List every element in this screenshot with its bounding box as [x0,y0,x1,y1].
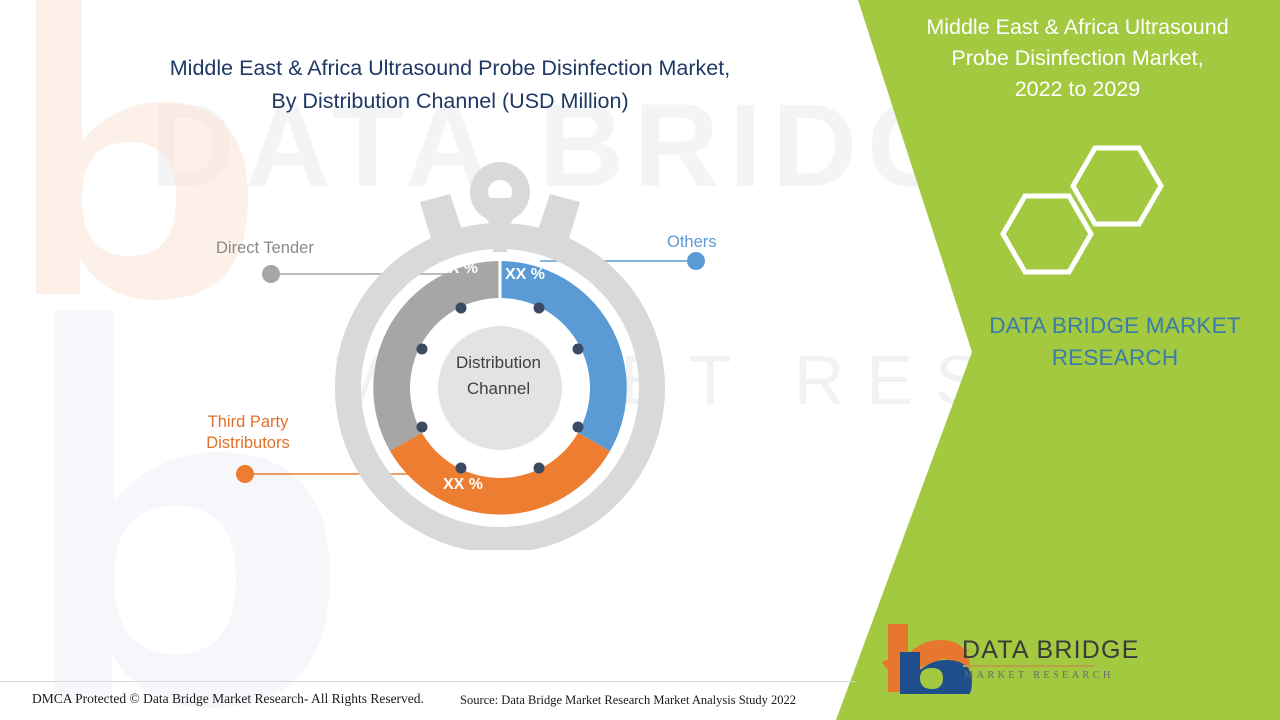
hexagon-2022 [1073,148,1161,224]
panel-brand-line-1: DATA BRIDGE MARKET [965,310,1265,342]
panel-brand-line-2: RESEARCH [965,342,1265,374]
panel-title-line-2: Probe Disinfection Market, [885,43,1270,74]
panel-title-line-3: 2022 to 2029 [885,74,1270,105]
distribution-channel-donut-chart [325,150,675,550]
footer-source: Source: Data Bridge Market Research Mark… [460,693,796,708]
data-bridge-logo-text: DATA BRIDGE MARKET RESEARCH [962,636,1140,683]
callout-dot-third-party [236,465,254,483]
year-hexagons [975,140,1185,280]
footer-bar: DMCA Protected © Data Bridge Market Rese… [0,681,855,720]
panel-title: Middle East & Africa Ultrasound Probe Di… [885,12,1270,105]
logo-sub-text: MARKET RESEARCH [962,669,1140,683]
infographic-page: DATA BRIDGE MARKET RESEARCH Middle East … [0,0,1280,720]
footer-copyright: DMCA Protected © Data Bridge Market Rese… [32,691,424,707]
donut-segments [373,261,626,515]
callout-dot-others [687,252,705,270]
hexagon-2029 [1003,196,1091,272]
panel-brand-text: DATA BRIDGE MARKET RESEARCH [965,310,1265,374]
logo-divider [963,665,1095,667]
logo-main-text: DATA BRIDGE [962,636,1140,664]
panel-title-line-1: Middle East & Africa Ultrasound [885,12,1270,43]
callout-dot-direct-tender [262,265,280,283]
